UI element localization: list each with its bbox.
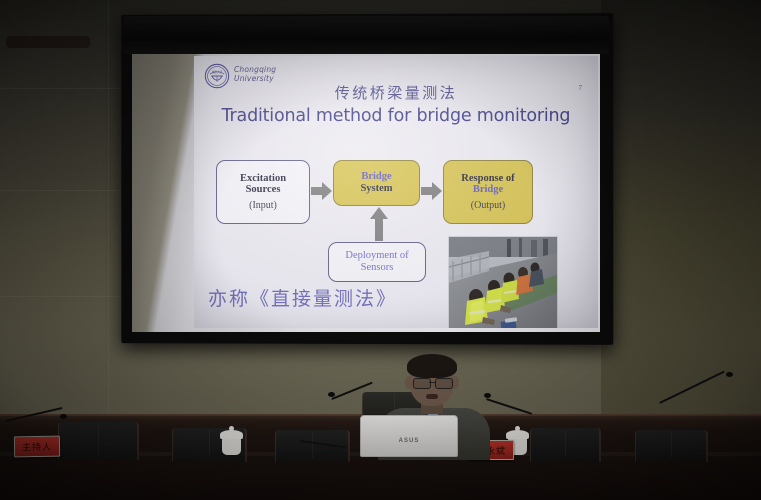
presentation-slide: 重庆大学 Chongqing University 7 传统桥梁量测法 Trad… — [194, 56, 598, 328]
diagram-box-deployment-of-sensors: Deployment of Sensors — [328, 242, 426, 282]
office-chair — [530, 428, 601, 462]
presenter-ear-left — [405, 376, 413, 389]
teacup-lid — [506, 430, 529, 439]
teacup-knob — [229, 426, 234, 431]
university-name: Chongqing University — [234, 66, 276, 83]
diagram-box-bridge-system: Bridge System — [333, 160, 420, 206]
wall-seam-vertical — [108, 0, 109, 420]
arrow-up-icon — [369, 206, 389, 242]
microphone-head — [60, 414, 67, 419]
microphone-head — [726, 372, 733, 377]
presenter-hands-on-keyboard — [6, 36, 90, 48]
box-line: Sources — [246, 184, 281, 196]
microphone-head — [328, 392, 335, 397]
slide-title-english: Traditional method for bridge monitoring — [194, 106, 598, 126]
nameplate-moderator: 主持人 — [14, 436, 60, 458]
office-chair — [635, 430, 708, 462]
teacup-lid — [220, 430, 243, 439]
box-line: Excitation — [240, 173, 286, 185]
projector-screen-roller-casing — [123, 16, 609, 54]
box-line: Deployment of — [345, 250, 408, 262]
box-line: Bridge — [473, 184, 503, 196]
arrow-right-icon — [421, 181, 443, 201]
field-work-photo-graphic — [449, 237, 557, 328]
box-paren: (Input) — [249, 200, 277, 211]
svg-text:重庆大学: 重庆大学 — [212, 70, 223, 74]
diagram-box-excitation-sources: Excitation Sources (Input) — [216, 160, 310, 224]
projector-screen-surface: 重庆大学 Chongqing University 7 传统桥梁量测法 Trad… — [132, 54, 600, 332]
box-line: System — [360, 183, 392, 195]
eyeglass-lens-right — [435, 378, 453, 389]
field-work-photo: 激活 Windows 转到"设置"以激活 Windows。 — [448, 236, 558, 328]
slide-title-chinese: 传统桥梁量测法 — [194, 82, 598, 103]
laptop-lid: ASUS — [360, 415, 458, 457]
eyeglass-bridge — [429, 382, 435, 383]
lecture-hall-scene: 重庆大学 Chongqing University 7 传统桥梁量测法 Trad… — [0, 0, 761, 500]
box-line: Bridge — [361, 171, 391, 183]
box-paren: (Output) — [471, 200, 505, 211]
eyeglass-lens-left — [413, 378, 431, 389]
arrow-right-icon — [311, 181, 333, 201]
office-chair — [58, 422, 139, 460]
laptop-brand-logo: ASUS — [399, 438, 420, 444]
porcelain-teacup — [222, 437, 241, 455]
diagram-box-response-of-bridge: Response of Bridge (Output) — [443, 160, 533, 224]
teacup-knob — [515, 426, 520, 431]
slide-footer-chinese: 亦称《直接量测法》 — [208, 284, 397, 311]
box-line: Sensors — [361, 262, 394, 274]
laptop[interactable]: ASUS — [360, 415, 456, 457]
right-wall — [601, 0, 761, 420]
presenter-hair — [407, 354, 457, 378]
presenter-mouth — [426, 394, 438, 399]
box-line: Response of — [461, 173, 514, 185]
